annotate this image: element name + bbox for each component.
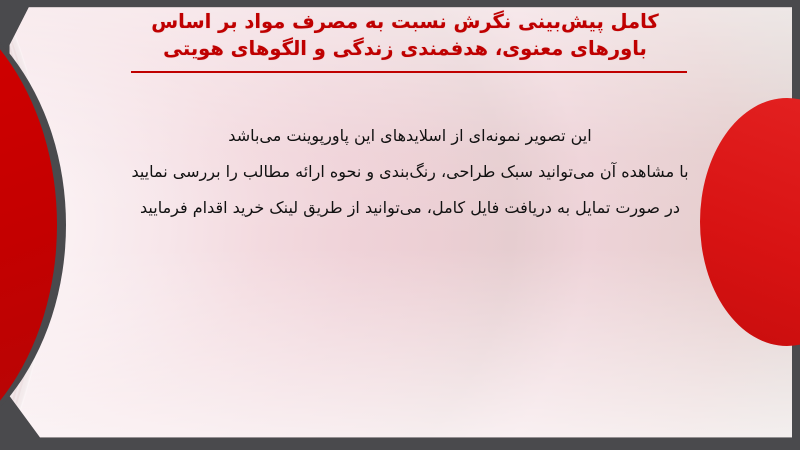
body-line-1: این تصویر نمونه‌ای از اسلایدهای این پاور…	[60, 118, 760, 154]
slide-body: این تصویر نمونه‌ای از اسلایدهای این پاور…	[60, 118, 760, 226]
body-line-2: با مشاهده آن می‌توانید سبک طراحی، رنگ‌بن…	[60, 154, 760, 190]
title-line-2: باورهای معنوی، هدفمندی زندگی و الگوهای ه…	[90, 35, 720, 62]
presentation-slide: کامل پیش‌بینی نگرش نسبت به مصرف مواد بر …	[0, 0, 800, 450]
title-divider-rule	[131, 71, 687, 73]
slide-panel: کامل پیش‌بینی نگرش نسبت به مصرف مواد بر …	[0, 0, 800, 450]
body-line-3: در صورت تمایل به دریافت فایل کامل، می‌تو…	[60, 190, 760, 226]
title-line-1: کامل پیش‌بینی نگرش نسبت به مصرف مواد بر …	[90, 8, 720, 35]
slide-title: کامل پیش‌بینی نگرش نسبت به مصرف مواد بر …	[90, 8, 720, 62]
